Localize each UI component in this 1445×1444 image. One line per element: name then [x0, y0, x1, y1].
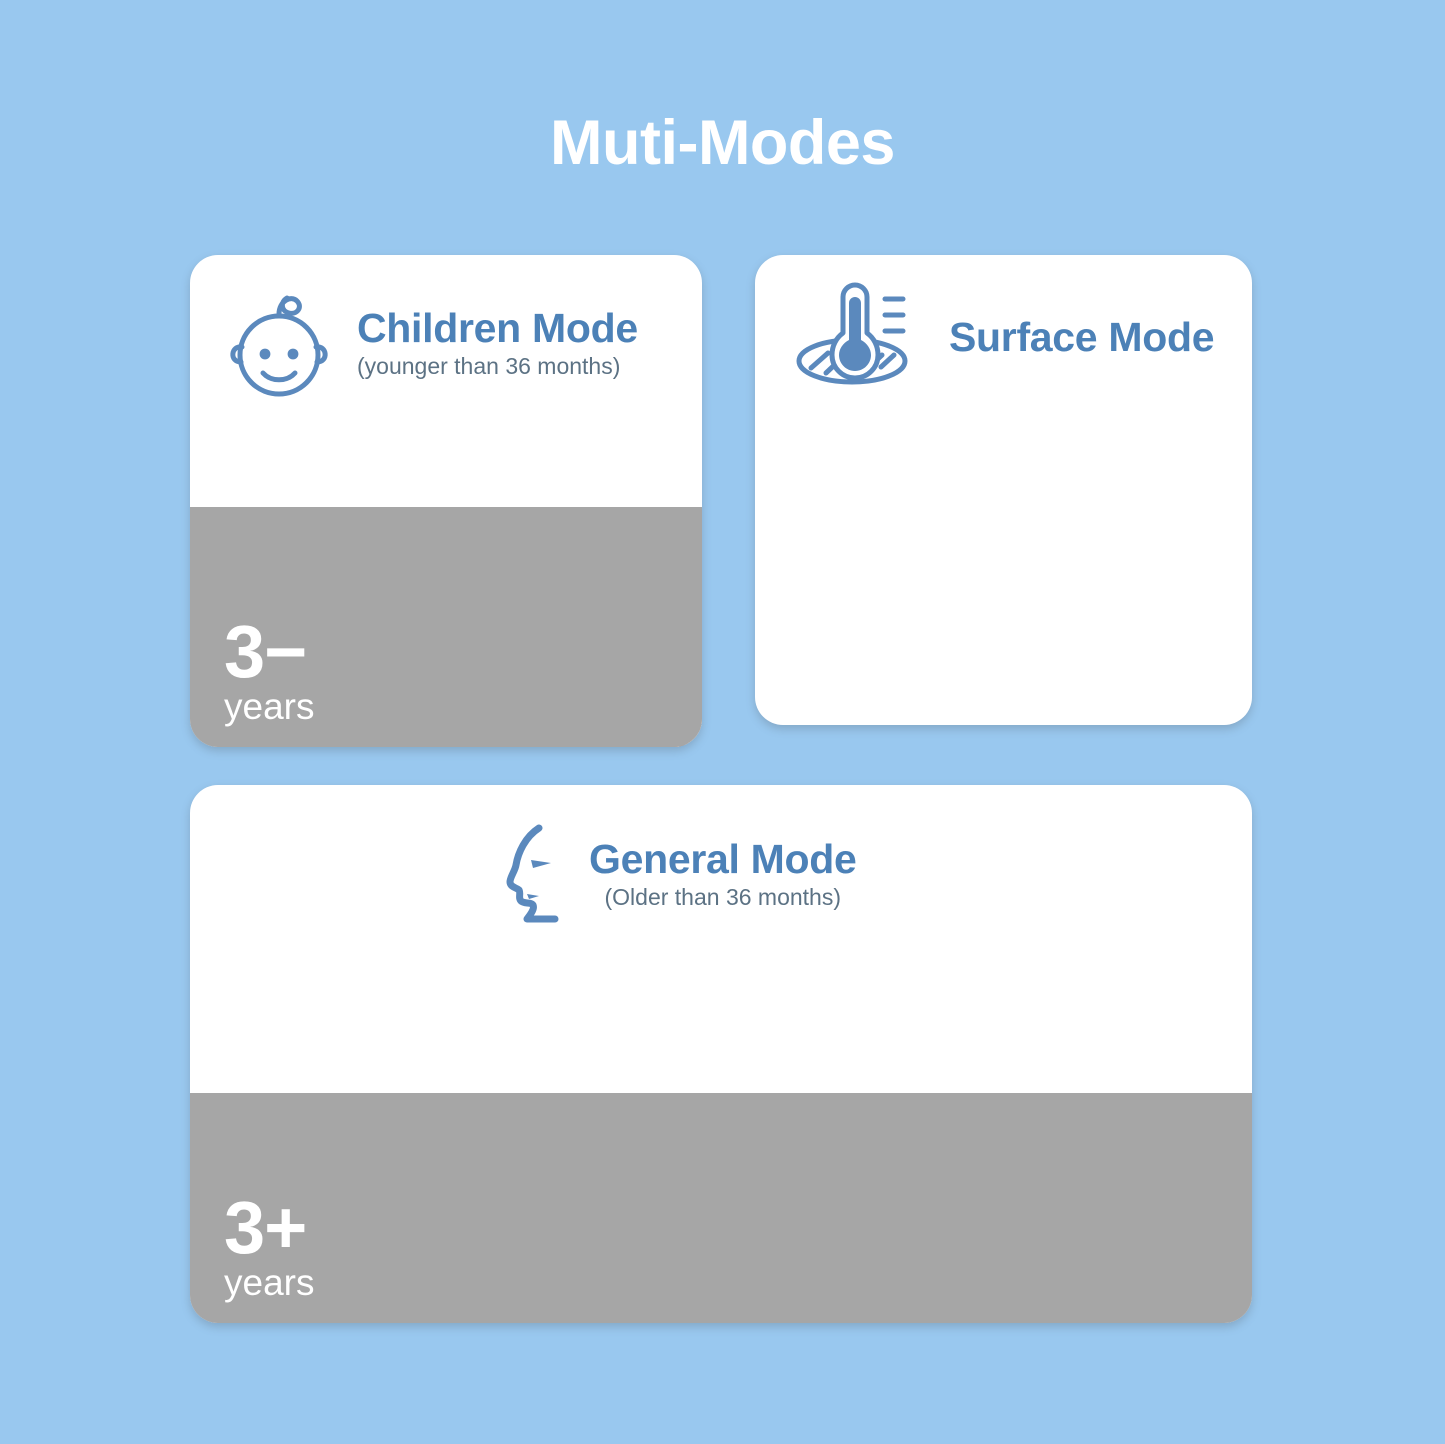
smiling-baby-photo	[490, 630, 702, 747]
surface-mode-title: Surface Mode	[949, 316, 1214, 359]
page-title: Muti-Modes	[0, 112, 1445, 175]
general-mode-subtitle: (Older than 36 months)	[605, 883, 842, 912]
face-profile-icon	[505, 825, 567, 925]
general-mode-header: General Mode (Older than 36 months)	[505, 825, 857, 925]
general-mode-text: General Mode (Older than 36 months)	[589, 838, 857, 912]
children-mode-subtitle: (younger than 36 months)	[357, 352, 620, 381]
surface-mode-header: Surface Mode	[795, 285, 1214, 389]
children-mode-text: Children Mode (younger than 36 months)	[357, 307, 638, 380]
thermometer-surface-icon	[795, 285, 919, 389]
baby-face-icon	[225, 288, 333, 400]
children-mode-title: Children Mode	[357, 307, 638, 350]
age-badge-shape	[190, 1093, 1252, 1323]
age-badge-unit: years	[224, 1264, 314, 1301]
card-general-mode[interactable]: 3+ years General Mode (Older than 36 mon…	[190, 785, 1252, 1323]
age-badge-number: 3−	[224, 618, 314, 686]
general-mode-title: General Mode	[589, 838, 857, 881]
card-children-mode[interactable]: 3− years	[190, 255, 702, 747]
infographic-page: Muti-Modes	[0, 0, 1445, 1444]
surface-mode-text: Surface Mode	[949, 316, 1214, 359]
age-badge-unit: years	[224, 688, 314, 725]
children-mode-header: Children Mode (younger than 36 months)	[225, 288, 638, 400]
age-badge-number: 3+	[224, 1194, 314, 1262]
card-surface-mode[interactable]: Surface Mode	[755, 255, 1252, 725]
age-badge-label: 3− years	[224, 618, 314, 725]
age-badge-label: 3+ years	[224, 1194, 314, 1301]
